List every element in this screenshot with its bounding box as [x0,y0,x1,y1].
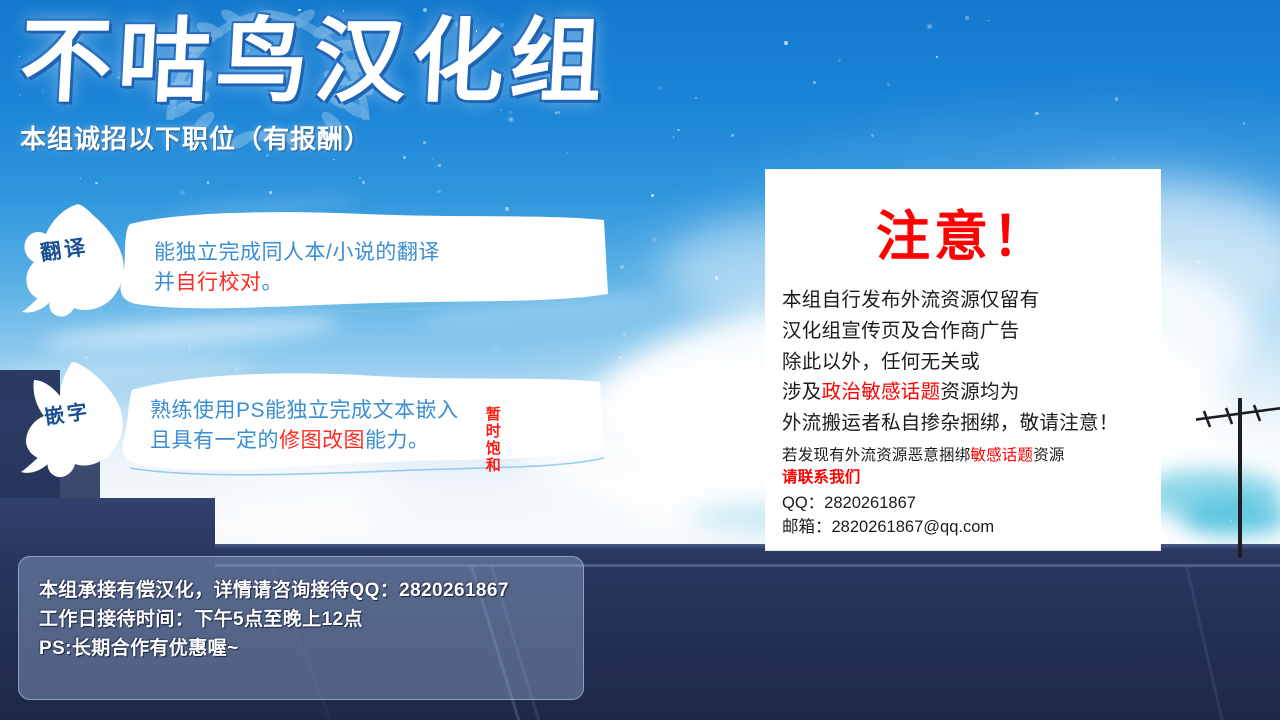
notice-prefix: 涉及 [782,381,822,403]
qq-label: QQ： [782,494,824,512]
roof-seam [1185,565,1255,720]
notice-contact-info: QQ：2820261867 邮箱：2820261867@qq.com [766,489,1160,540]
notice-highlight: 政治敏感话题 [822,381,941,403]
tv-antenna-icon [1196,398,1280,558]
job-line-1: 能独立完成同人本/小说的翻译 [154,238,440,268]
info-line-3: PS:长期合作有优惠喔~ [39,635,583,664]
job-line-2: 并自行校对。 [154,268,440,298]
info-line-1: 本组承接有偿汉化，详情请咨询接待QQ：2820261867 [39,577,583,606]
job-line-prefix: 并 [154,271,176,294]
commission-info-box: 本组承接有偿汉化，详情请咨询接待QQ：2820261867 工作日接待时间：下午… [18,556,584,700]
email-label: 邮箱： [782,518,832,536]
notice-small-suffix: 资源 [1033,447,1064,464]
notice-suffix: 资源均为 [940,381,1019,403]
job-line-suffix: 能力。 [365,429,430,452]
job-line-suffix: 。 [262,271,284,294]
info-line-2: 工作日接待时间：下午5点至晚上12点 [39,606,583,635]
email-value: 2820261867@qq.com [832,518,995,536]
job-description: 能独立完成同人本/小说的翻译 并自行校对。 [154,238,440,299]
notice-line: 外流搬运者私自掺杂捆绑，敬请注意！ [782,408,1160,439]
job-line-1: 熟练使用PS能独立完成文本嵌入 [150,396,459,426]
notice-small-prefix: 若发现有外流资源恶意捆绑 [782,447,970,464]
job-line-2: 且具有一定的修图改图能力。 [150,426,459,456]
notice-card: 注意！ 本组自行发布外流资源仅留有 汉化组宣传页及合作商广告 除此以外，任何无关… [766,170,1160,550]
notice-line-mixed: 涉及政治敏感话题资源均为 [782,377,1160,408]
notice-small-highlight: 敏感话题 [970,447,1033,464]
banner-canvas: 不咕鸟汉化组 本组诚招以下职位（有报酬） 翻译 能独立完成同人本/小说的翻译 并… [0,0,1280,720]
job-line-highlight: 修图改图 [279,429,365,452]
recruit-subtitle: 本组诚招以下职位（有报酬） [20,119,760,156]
job-line-prefix: 且具有一定的 [150,429,279,452]
notice-footnote: 若发现有外流资源恶意捆绑敏感话题资源 请联系我们 [766,439,1160,489]
qq-value: 2820261867 [824,494,916,512]
job-status-badge: 暂时饱和 [484,406,500,474]
notice-line: 本组自行发布外流资源仅留有 [782,285,1160,316]
notice-contact-cta: 请联系我们 [782,467,1160,489]
job-description: 熟练使用PS能独立完成文本嵌入 且具有一定的修图改图能力。 [150,396,459,457]
notice-email-row: 邮箱：2820261867@qq.com [782,515,1160,539]
notice-line: 汉化组宣传页及合作商广告 [782,316,1160,347]
notice-line: 除此以外，任何无关或 [782,347,1160,378]
job-line-highlight: 自行校对 [176,271,262,294]
notice-qq-row: QQ：2820261867 [782,491,1160,515]
notice-title: 注意！ [766,192,1160,271]
job-ribbon: 熟练使用PS能独立完成文本嵌入 且具有一定的修图改图能力。 暂时饱和 [116,368,594,476]
notice-small-mixed: 若发现有外流资源恶意捆绑敏感话题资源 [782,445,1160,467]
job-ribbon: 能独立完成同人本/小说的翻译 并自行校对。 [116,208,606,316]
group-logo-title: 不咕鸟汉化组 [17,14,762,111]
title-block: 不咕鸟汉化组 本组诚招以下职位（有报酬） [20,14,760,156]
notice-body: 本组自行发布外流资源仅留有 汉化组宣传页及合作商广告 除此以外，任何无关或 涉及… [766,285,1160,439]
